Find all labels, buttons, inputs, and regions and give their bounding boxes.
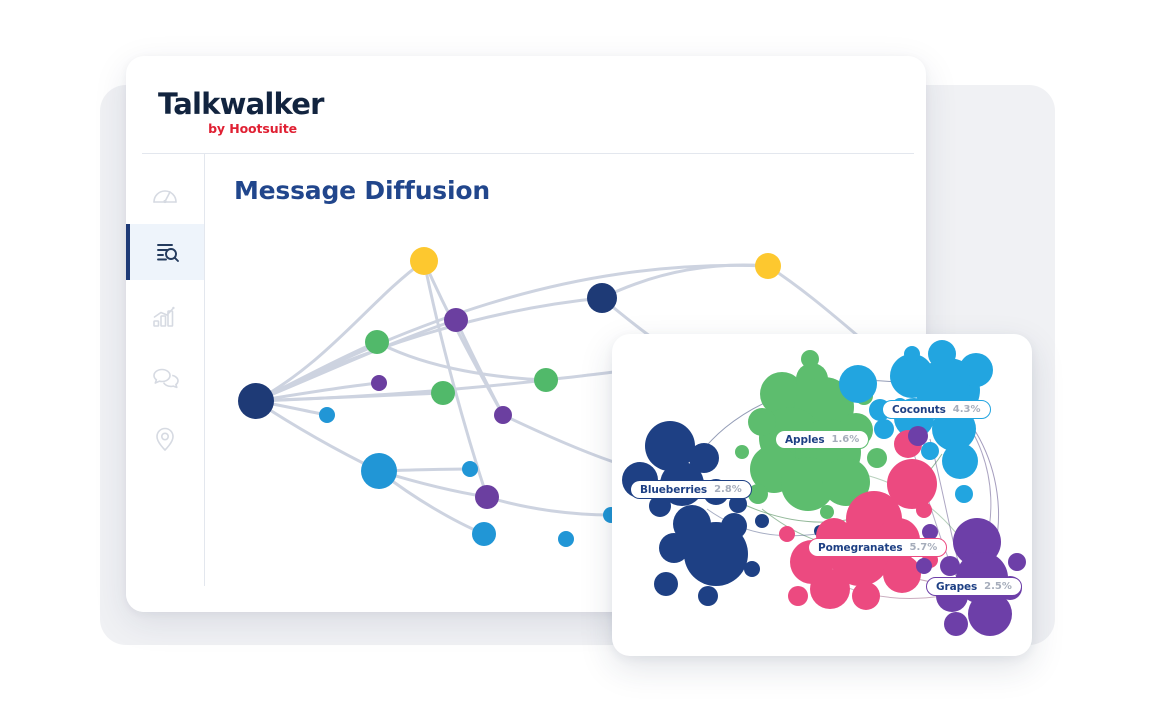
cluster-label-name: Apples [785, 434, 825, 446]
cluster-label-apples[interactable]: Apples 1.6% [775, 430, 869, 449]
screenshot-stage: Talkwalker by Hootsuite [0, 0, 1160, 710]
cluster-label-name: Blueberries [640, 484, 707, 496]
cluster-label-name: Pomegranates [818, 542, 903, 554]
network-node[interactable] [587, 283, 617, 313]
cluster-label-coconuts[interactable]: Coconuts 4.3% [882, 400, 991, 419]
network-node[interactable] [431, 381, 455, 405]
cluster-label-value: 1.6% [832, 434, 860, 445]
cluster-label-value: 5.7% [910, 542, 938, 553]
cluster-label-value: 2.5% [984, 581, 1012, 592]
network-node[interactable] [558, 531, 574, 547]
cluster-label-value: 2.8% [714, 484, 742, 495]
network-node[interactable] [475, 485, 499, 509]
topic-cluster-card: Blueberries 2.8% Apples 1.6% Coconuts 4.… [612, 334, 1032, 656]
network-node[interactable] [472, 522, 496, 546]
cluster-label-pomegranates[interactable]: Pomegranates 5.7% [808, 538, 947, 557]
cluster-label-name: Coconuts [892, 404, 946, 416]
network-node[interactable] [361, 453, 397, 489]
network-node[interactable] [755, 253, 781, 279]
cluster-label-value: 4.3% [953, 404, 981, 415]
network-node[interactable] [319, 407, 335, 423]
network-node[interactable] [444, 308, 468, 332]
network-node[interactable] [494, 406, 512, 424]
cluster-label-blueberries[interactable]: Blueberries 2.8% [630, 480, 752, 499]
cluster-label-name: Grapes [936, 581, 977, 593]
network-node[interactable] [410, 247, 438, 275]
network-node[interactable] [462, 461, 478, 477]
network-node[interactable] [371, 375, 387, 391]
network-node-hub[interactable] [238, 383, 274, 419]
network-node[interactable] [365, 330, 389, 354]
cluster-label-grapes[interactable]: Grapes 2.5% [926, 577, 1022, 596]
network-node[interactable] [534, 368, 558, 392]
